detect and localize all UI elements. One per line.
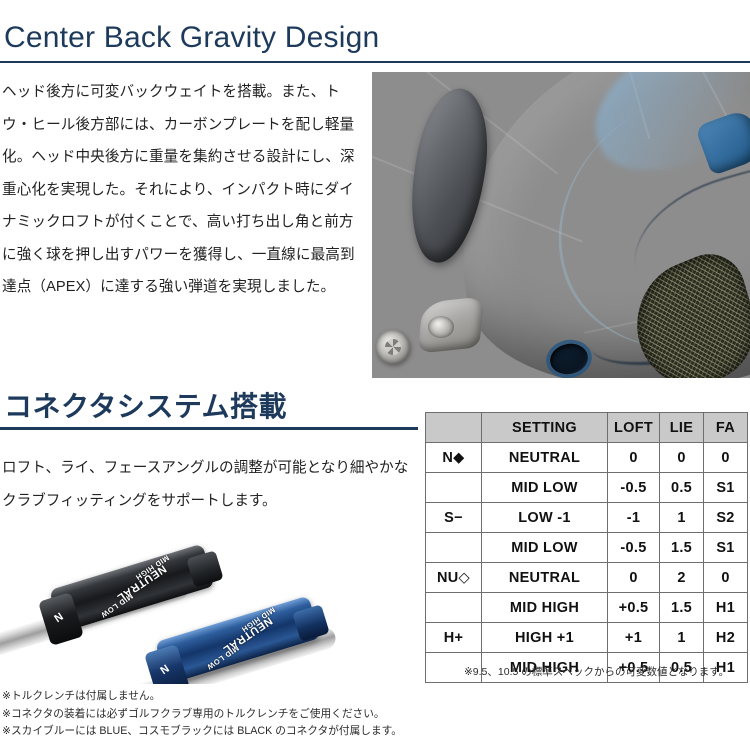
cell-code bbox=[426, 533, 482, 563]
cell-lie: 0 bbox=[660, 443, 704, 473]
cell-lie: 2 bbox=[660, 563, 704, 593]
connector-image: MID HIGH NEUTRAL MID LOW N MID HIGH NEUT… bbox=[0, 508, 420, 684]
loft-lie-spec-table: SETTING LOFT LIE FA N◆NEUTRAL000MID LOW-… bbox=[425, 412, 748, 683]
col-header-setting: SETTING bbox=[482, 413, 608, 443]
cell-fa: 0 bbox=[704, 563, 748, 593]
cell-loft: +0.5 bbox=[608, 593, 660, 623]
product-detail-page: Center Back Gravity Design ヘッド後方に可変バックウェ… bbox=[0, 0, 750, 750]
cell-lie: 1.5 bbox=[660, 533, 704, 563]
footnotes: ※トルクレンチは付属しません。 ※コネクタの装着には必ずゴルフクラブ専用のトルク… bbox=[2, 688, 432, 741]
table-body: N◆NEUTRAL000MID LOW-0.50.5S1S−LOW -1-11S… bbox=[426, 443, 748, 683]
table-note: ※9.5、10.5 の標準スペックからの可変数値となります。 bbox=[464, 664, 729, 679]
driver-head-image bbox=[372, 72, 750, 378]
cell-code: H+ bbox=[426, 623, 482, 653]
cell-loft: -0.5 bbox=[608, 473, 660, 503]
col-header-fa: FA bbox=[704, 413, 748, 443]
weight-screw bbox=[376, 330, 410, 364]
footnote-item: ※コネクタの装着には必ずゴルフクラブ専用のトルクレンチをご使用ください。 bbox=[2, 706, 432, 724]
table-row: MID HIGH+0.51.5H1 bbox=[426, 593, 748, 623]
col-header-loft: LOFT bbox=[608, 413, 660, 443]
connector-title-divider bbox=[0, 427, 418, 430]
table-row: MID LOW-0.50.5S1 bbox=[426, 473, 748, 503]
page-title: Center Back Gravity Design bbox=[4, 20, 379, 56]
cell-code: NU◇ bbox=[426, 563, 482, 593]
cell-code bbox=[426, 593, 482, 623]
cell-fa: H1 bbox=[704, 593, 748, 623]
table-row: H+HIGH +1+11H2 bbox=[426, 623, 748, 653]
cell-loft: -1 bbox=[608, 503, 660, 533]
cell-code: N◆ bbox=[426, 443, 482, 473]
cell-loft: +1 bbox=[608, 623, 660, 653]
connector-code-n: N bbox=[158, 662, 171, 676]
cell-code bbox=[426, 473, 482, 503]
connector-section-title: コネクタシステム搭載 bbox=[4, 390, 287, 424]
cell-setting: NEUTRAL bbox=[482, 563, 608, 593]
cell-fa: S1 bbox=[704, 473, 748, 503]
hero-description: ヘッド後方に可変バックウェイトを搭載。また、トウ・ヒール後方部には、カーボンプレ… bbox=[2, 76, 362, 304]
connector-code-n: N bbox=[52, 610, 65, 624]
table-row: S−LOW -1-11S2 bbox=[426, 503, 748, 533]
cell-fa: S1 bbox=[704, 533, 748, 563]
cell-setting: MID LOW bbox=[482, 473, 608, 503]
weight-ring bbox=[428, 316, 454, 338]
cell-setting: LOW -1 bbox=[482, 503, 608, 533]
footnote-item: ※スカイブルーには BLUE、コスモブラックには BLACK のコネクタが付属し… bbox=[2, 723, 432, 741]
table-row: NU◇NEUTRAL020 bbox=[426, 563, 748, 593]
cell-fa: H2 bbox=[704, 623, 748, 653]
table-row: MID LOW-0.51.5S1 bbox=[426, 533, 748, 563]
cell-code: S− bbox=[426, 503, 482, 533]
cell-lie: 1.5 bbox=[660, 593, 704, 623]
table-row: N◆NEUTRAL000 bbox=[426, 443, 748, 473]
table-header-row: SETTING LOFT LIE FA bbox=[426, 413, 748, 443]
col-header-code bbox=[426, 413, 482, 443]
cell-fa: S2 bbox=[704, 503, 748, 533]
footnote-item: ※トルクレンチは付属しません。 bbox=[2, 688, 432, 706]
cell-lie: 1 bbox=[660, 623, 704, 653]
title-divider bbox=[0, 61, 750, 63]
col-header-lie: LIE bbox=[660, 413, 704, 443]
cell-loft: -0.5 bbox=[608, 533, 660, 563]
hero-description-text: ヘッド後方に可変バックウェイトを搭載。また、トウ・ヒール後方部には、カーボンプレ… bbox=[2, 76, 362, 304]
cell-setting: NEUTRAL bbox=[482, 443, 608, 473]
cell-loft: 0 bbox=[608, 443, 660, 473]
cell-setting: MID LOW bbox=[482, 533, 608, 563]
cell-setting: HIGH +1 bbox=[482, 623, 608, 653]
cell-loft: 0 bbox=[608, 563, 660, 593]
cell-fa: 0 bbox=[704, 443, 748, 473]
cell-lie: 0.5 bbox=[660, 473, 704, 503]
cell-setting: MID HIGH bbox=[482, 593, 608, 623]
cell-lie: 1 bbox=[660, 503, 704, 533]
